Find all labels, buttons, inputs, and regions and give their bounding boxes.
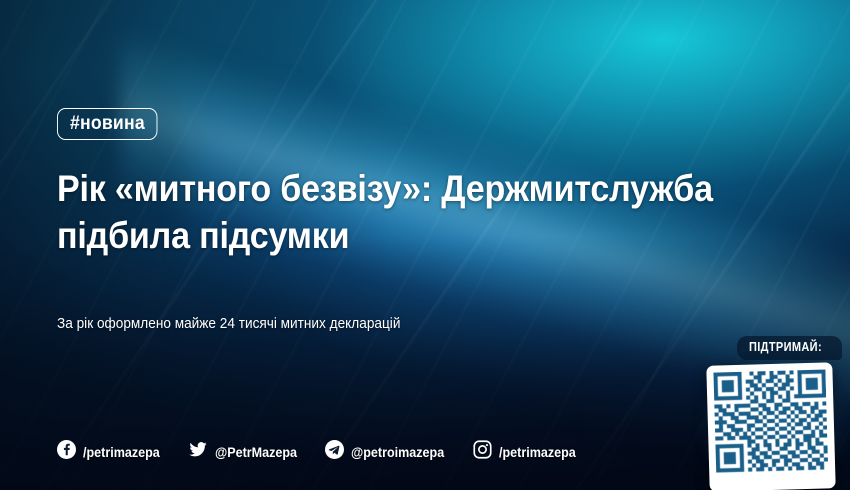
telegram-handle: @petroimazepa xyxy=(351,445,444,460)
news-card: #новина Рік «митного безвізу»: Держмитсл… xyxy=(0,0,850,490)
qr-code[interactable] xyxy=(713,369,828,484)
support-label: ПІДТРИМАЙ: xyxy=(749,341,822,354)
instagram-icon xyxy=(473,440,492,464)
social-links: /petrimazepa @PetrMazepa @petroimaz xyxy=(57,440,581,464)
twitter-icon xyxy=(188,440,208,464)
facebook-handle: /petrimazepa xyxy=(83,445,160,460)
support-block[interactable]: ПІДТРИМАЙ: xyxy=(694,336,850,490)
social-link-instagram[interactable]: /petrimazepa xyxy=(473,440,582,464)
category-badge[interactable]: #новина xyxy=(57,108,158,140)
qr-card[interactable] xyxy=(706,362,835,490)
page-title: Рік «митного безвізу»: Держмитслужба під… xyxy=(57,165,729,259)
instagram-handle: /petrimazepa xyxy=(499,445,576,460)
facebook-icon xyxy=(57,440,76,464)
support-label-tab: ПІДТРИМАЙ: xyxy=(737,336,842,360)
page-subtitle: За рік оформлено майже 24 тисячі митних … xyxy=(57,316,400,332)
telegram-icon xyxy=(325,440,344,464)
social-link-twitter[interactable]: @PetrMazepa xyxy=(188,440,303,464)
social-link-telegram[interactable]: @petroimazepa xyxy=(325,440,451,464)
twitter-handle: @PetrMazepa xyxy=(215,445,297,460)
social-link-facebook[interactable]: /petrimazepa xyxy=(57,440,166,464)
